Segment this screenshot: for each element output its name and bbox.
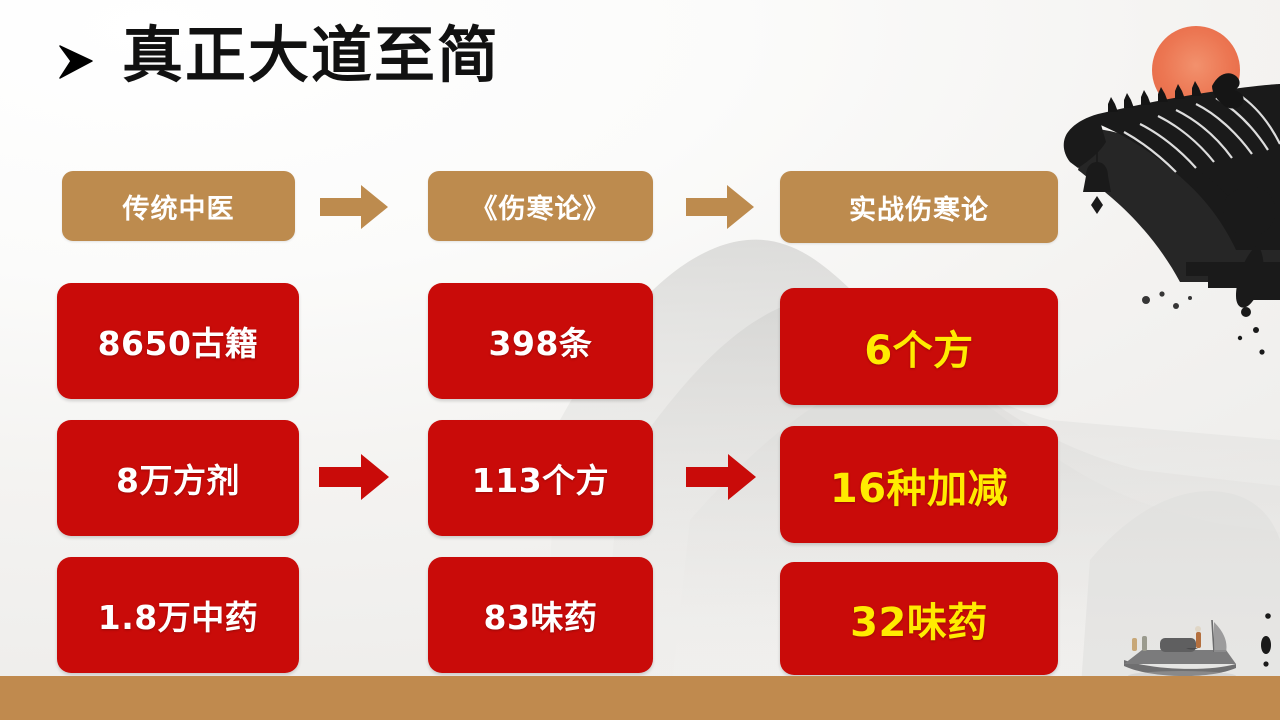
ink-splatter-icon [1223, 186, 1275, 666]
data-box-label: 32味药 [850, 590, 988, 648]
data-box-col2-row3[interactable]: 83味药 [428, 557, 653, 673]
data-box-col2-row1[interactable]: 398条 [428, 283, 653, 399]
slide-canvas: 真正大道至简 传统中医 《伤寒论》 实战伤寒论 8650古籍 8万方剂 1.8万… [0, 0, 1280, 720]
data-box-label: 6个方 [864, 318, 973, 376]
arrow-bullet-icon [54, 40, 98, 84]
row-arrow-icon-2 [684, 453, 758, 501]
column-header-label: 传统中医 [123, 187, 235, 226]
data-box-col3-row2[interactable]: 16种加减 [780, 426, 1058, 543]
data-box-label: 83味药 [484, 591, 598, 639]
data-box-label: 1.8万中药 [98, 591, 258, 639]
page-title: 真正大道至简 [122, 24, 500, 88]
column-header-label: 实战伤寒论 [849, 188, 989, 227]
data-box-col2-row2[interactable]: 113个方 [428, 420, 653, 536]
hanging-bell-icon [1083, 150, 1111, 214]
data-box-col1-row3[interactable]: 1.8万中药 [57, 557, 299, 673]
column-header-traditional[interactable]: 传统中医 [62, 171, 295, 241]
column-header-practical[interactable]: 实战伤寒论 [780, 171, 1058, 243]
data-box-label: 398条 [489, 317, 593, 365]
data-box-col3-row1[interactable]: 6个方 [780, 288, 1058, 405]
bottom-accent-band [0, 676, 1280, 720]
data-box-col1-row2[interactable]: 8万方剂 [57, 420, 299, 536]
temple-roof-icon [1064, 84, 1280, 300]
data-box-label: 8万方剂 [116, 454, 240, 502]
data-box-col3-row3[interactable]: 32味药 [780, 562, 1058, 675]
column-header-label: 《伤寒论》 [471, 187, 611, 226]
page-title-row: 真正大道至简 [54, 24, 500, 88]
data-box-label: 8650古籍 [98, 317, 259, 365]
column-header-shanghanlun[interactable]: 《伤寒论》 [428, 171, 653, 241]
data-box-label: 16种加减 [830, 456, 1008, 514]
header-arrow-icon-1 [318, 183, 390, 231]
data-box-label: 113个方 [472, 454, 609, 502]
red-sun-icon [1152, 26, 1240, 114]
row-arrow-icon-1 [317, 453, 391, 501]
fishing-boat-icon [1124, 620, 1236, 681]
roof-figurines-icon [1108, 73, 1244, 112]
data-box-col1-row1[interactable]: 8650古籍 [57, 283, 299, 399]
header-arrow-icon-2 [684, 183, 756, 231]
